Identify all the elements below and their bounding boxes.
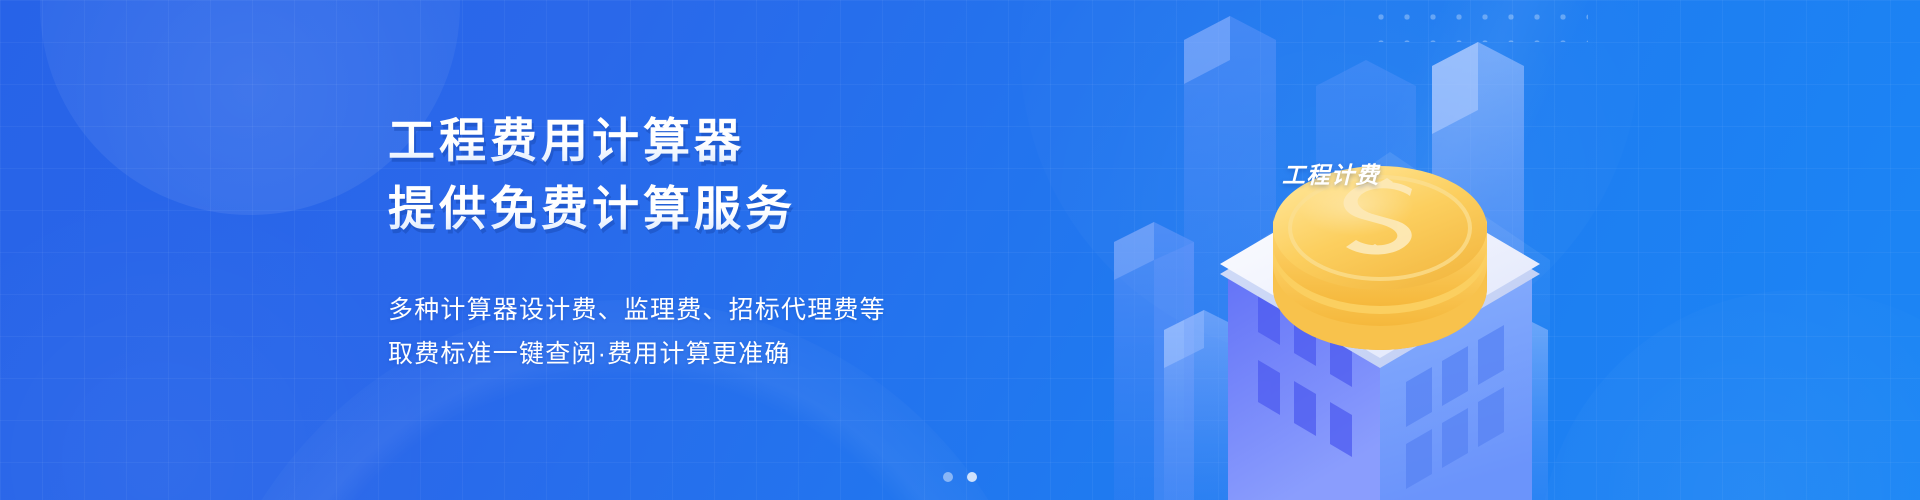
carousel-dot-1[interactable] [943, 472, 953, 482]
decorative-circle-mid-left [0, 180, 440, 500]
headline-line-2: 提供免费计算服务 [388, 178, 1008, 240]
headline-line-1: 工程费用计算器 [388, 110, 1008, 172]
illustration-label: 工程计费 [1282, 156, 1380, 190]
subtitle-line-2: 取费标准一键查阅·费用计算更准确 [388, 332, 1008, 376]
banner-copy: 工程费用计算器 提供免费计算服务 多种计算器设计费、监理费、招标代理费等 取费标… [388, 110, 1008, 376]
subtitle-line-1: 多种计算器设计费、监理费、招标代理费等 [388, 288, 1008, 332]
hero-banner: 工程计费 工程费用计算器 提供免费计算服务 多种计算器设计费、监理费、招标代理费… [0, 0, 1920, 500]
isometric-illustration [1080, 0, 1640, 500]
carousel-indicators[interactable] [943, 472, 977, 482]
subtitle-group: 多种计算器设计费、监理费、招标代理费等 取费标准一键查阅·费用计算更准确 [388, 288, 1008, 376]
carousel-dot-2[interactable] [967, 472, 977, 482]
gold-coin-stack [1273, 166, 1487, 350]
